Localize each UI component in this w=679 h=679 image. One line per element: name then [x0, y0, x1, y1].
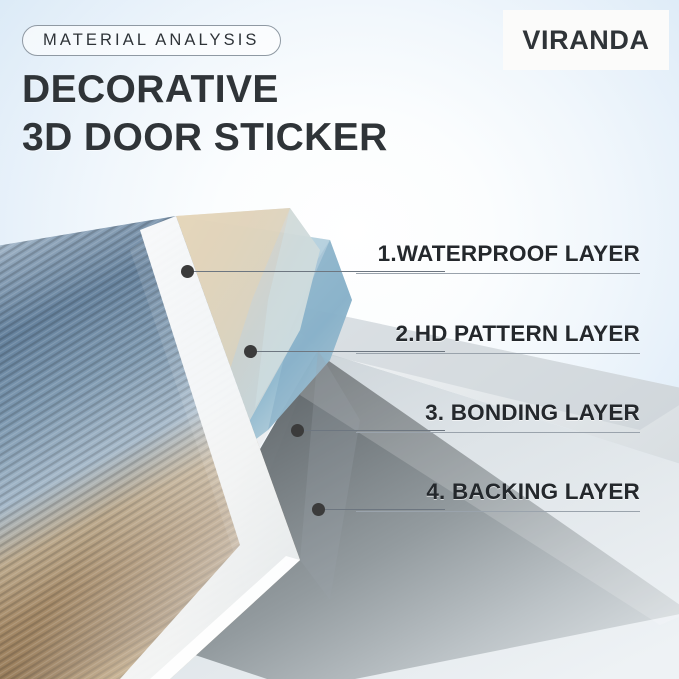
page-title-line-1: DECORATIVE: [22, 66, 492, 114]
callout-dot-backing: [312, 503, 325, 516]
callout-rule-waterproof: [356, 273, 640, 274]
callout-label-backing: 4. BACKING LAYER: [356, 481, 640, 504]
callout-dot-hd-pattern: [244, 345, 257, 358]
callout-rule-backing: [356, 511, 640, 512]
page-title: DECORATIVE 3D DOOR STICKER: [22, 66, 492, 162]
callout-rule-bonding: [356, 432, 640, 433]
callout-backing: 4. BACKING LAYER: [356, 481, 640, 512]
callout-hd-pattern: 2.HD PATTERN LAYER: [356, 323, 640, 354]
eyebrow-badge: MATERIAL ANALYSIS: [22, 25, 281, 56]
eyebrow-label: MATERIAL ANALYSIS: [43, 31, 260, 50]
callout-label-hd-pattern: 2.HD PATTERN LAYER: [356, 323, 640, 346]
callout-dot-bonding: [291, 424, 304, 437]
callout-label-bonding: 3. BONDING LAYER: [356, 402, 640, 425]
callout-dot-waterproof: [181, 265, 194, 278]
callout-bonding: 3. BONDING LAYER: [356, 402, 640, 433]
callout-waterproof: 1.WATERPROOF LAYER: [356, 243, 640, 274]
page-title-line-2: 3D DOOR STICKER: [22, 114, 492, 162]
brand-name: VIRANDA: [522, 25, 649, 56]
brand-logo-box: VIRANDA: [503, 10, 669, 70]
material-analysis-infographic: MATERIAL ANALYSIS DECORATIVE 3D DOOR STI…: [0, 0, 679, 679]
callout-label-waterproof: 1.WATERPROOF LAYER: [356, 243, 640, 266]
callout-rule-hd-pattern: [356, 353, 640, 354]
